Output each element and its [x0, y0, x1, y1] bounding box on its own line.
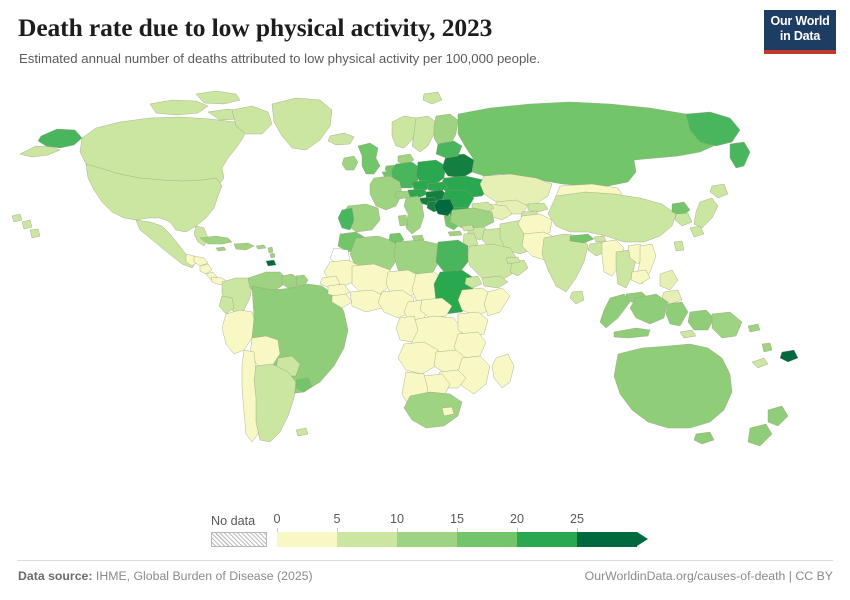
region-taiwan[interactable]: [674, 241, 684, 251]
choropleth-map[interactable]: [0, 86, 850, 498]
region-sri-lanka[interactable]: [570, 291, 584, 304]
region-ireland[interactable]: [342, 156, 358, 170]
region-papua-new-guinea[interactable]: [712, 312, 742, 338]
ramp-tick-label-2: 10: [390, 512, 404, 526]
region-angola[interactable]: [398, 342, 438, 374]
region-cyprus[interactable]: [462, 225, 474, 231]
ramp-band-4[interactable]: [517, 532, 577, 547]
ramp-tick-mark-4: [517, 528, 518, 532]
region-madagascar[interactable]: [492, 354, 514, 388]
region-jamaica[interactable]: [216, 247, 226, 251]
region-mali[interactable]: [352, 264, 392, 294]
region-poland[interactable]: [416, 160, 446, 184]
region-canada-arctic-1[interactable]: [150, 100, 208, 115]
ramp-tick-mark-1: [337, 528, 338, 532]
region-japan-hokkaido[interactable]: [710, 184, 728, 198]
region-tasmania[interactable]: [694, 432, 714, 444]
license-link[interactable]: OurWorldinData.org/causes-of-death | CC …: [585, 569, 833, 583]
region-alaska-tail[interactable]: [20, 146, 60, 157]
region-indonesia-papua-w[interactable]: [688, 310, 714, 330]
ramp-band-1[interactable]: [337, 532, 397, 547]
region-indonesia-borneo[interactable]: [630, 294, 668, 324]
page-title: Death rate due to low physical activity,…: [18, 13, 492, 43]
region-japan[interactable]: [694, 198, 718, 228]
region-alaska[interactable]: [38, 129, 82, 148]
region-kyrgyzstan[interactable]: [528, 203, 548, 212]
region-philippines-1[interactable]: [660, 270, 678, 290]
region-south-korea[interactable]: [675, 213, 692, 226]
region-cambodia[interactable]: [631, 270, 650, 284]
ramp-tick-label-1: 5: [333, 512, 340, 526]
world-map-svg[interactable]: [0, 86, 850, 498]
owid-logo[interactable]: Our World in Data: [764, 10, 836, 54]
no-data-swatch[interactable]: [211, 532, 267, 547]
region-sweden[interactable]: [412, 116, 436, 152]
color-ramp[interactable]: 0 5 10 15 20 25: [277, 532, 637, 547]
region-greenland[interactable]: [272, 98, 332, 150]
region-somalia[interactable]: [484, 288, 510, 316]
data-source: Data source: IHME, Global Burden of Dise…: [18, 569, 313, 583]
region-indonesia-java[interactable]: [614, 328, 650, 338]
region-guyana[interactable]: [282, 274, 298, 288]
data-source-value: IHME, Global Burden of Disease (2025): [96, 569, 313, 583]
region-timor[interactable]: [680, 330, 696, 338]
region-canada-arctic-2[interactable]: [196, 91, 240, 104]
ramp-tick-mark-0: [277, 528, 278, 532]
ramp-band-0[interactable]: [277, 532, 337, 547]
region-trinidad[interactable]: [266, 260, 276, 266]
region-ecuador[interactable]: [219, 296, 234, 314]
region-iceland[interactable]: [328, 133, 354, 145]
region-hawaii-2[interactable]: [22, 220, 32, 229]
region-hawaii[interactable]: [12, 214, 22, 222]
footer-divider: [17, 560, 833, 561]
region-hispaniola[interactable]: [234, 243, 254, 250]
ramp-arrow-icon: [637, 532, 648, 546]
region-australia[interactable]: [614, 344, 732, 428]
region-lesser-antilles[interactable]: [268, 247, 273, 253]
ramp-tick-label-5: 25: [570, 512, 584, 526]
country-layer[interactable]: [12, 91, 798, 446]
region-fiji[interactable]: [780, 350, 798, 362]
owid-logo-line-1: Our World: [764, 14, 836, 29]
chart-header: Death rate due to low physical activity,…: [0, 0, 850, 84]
ramp-tick-mark-3: [457, 528, 458, 532]
ramp-tick-mark-2: [397, 528, 398, 532]
region-united-kingdom[interactable]: [358, 143, 380, 174]
region-solomon-islands[interactable]: [748, 324, 760, 332]
owid-logo-line-2: in Data: [764, 29, 836, 44]
region-indonesia-sulawesi[interactable]: [666, 302, 688, 326]
region-vanuatu[interactable]: [762, 343, 772, 352]
region-italy[interactable]: [404, 196, 424, 234]
region-svalbard[interactable]: [423, 92, 442, 104]
ramp-tick-label-3: 15: [450, 512, 464, 526]
region-hawaii-3[interactable]: [30, 229, 40, 238]
region-crete[interactable]: [448, 231, 462, 236]
region-puerto-rico[interactable]: [256, 245, 266, 249]
region-falklands[interactable]: [296, 428, 308, 436]
map-legend[interactable]: No data 0 5 10 15 20 25: [0, 498, 850, 558]
data-source-label: Data source:: [18, 569, 93, 583]
chart-footer: Data source: IHME, Global Burden of Dise…: [0, 565, 850, 589]
ramp-band-2[interactable]: [397, 532, 457, 547]
region-egypt[interactable]: [436, 240, 468, 272]
ramp-tick-label-4: 20: [510, 512, 524, 526]
region-bhutan[interactable]: [594, 236, 606, 242]
region-caribbean-dots[interactable]: [270, 253, 275, 258]
region-indonesia-sumatra[interactable]: [600, 294, 630, 328]
region-south-africa[interactable]: [404, 392, 462, 428]
no-data-label: No data: [211, 514, 255, 528]
region-nicaragua[interactable]: [200, 264, 212, 274]
region-russia-kamchatka[interactable]: [730, 142, 750, 168]
region-sardinia[interactable]: [398, 215, 408, 226]
region-usa-florida[interactable]: [194, 226, 208, 246]
region-argentina[interactable]: [254, 364, 296, 442]
ramp-tick-label-0: 0: [273, 512, 280, 526]
chart-subtitle: Estimated annual number of deaths attrib…: [19, 50, 540, 67]
ramp-tick-mark-5: [577, 528, 578, 532]
region-baltics[interactable]: [436, 141, 462, 158]
ramp-band-5[interactable]: [577, 532, 637, 547]
owid-logo-rule: [764, 50, 836, 54]
region-new-zealand-n[interactable]: [768, 406, 788, 426]
region-new-zealand-s[interactable]: [748, 424, 772, 446]
ramp-band-3[interactable]: [457, 532, 517, 547]
region-russia[interactable]: [458, 102, 726, 186]
region-new-caledonia[interactable]: [752, 358, 768, 368]
